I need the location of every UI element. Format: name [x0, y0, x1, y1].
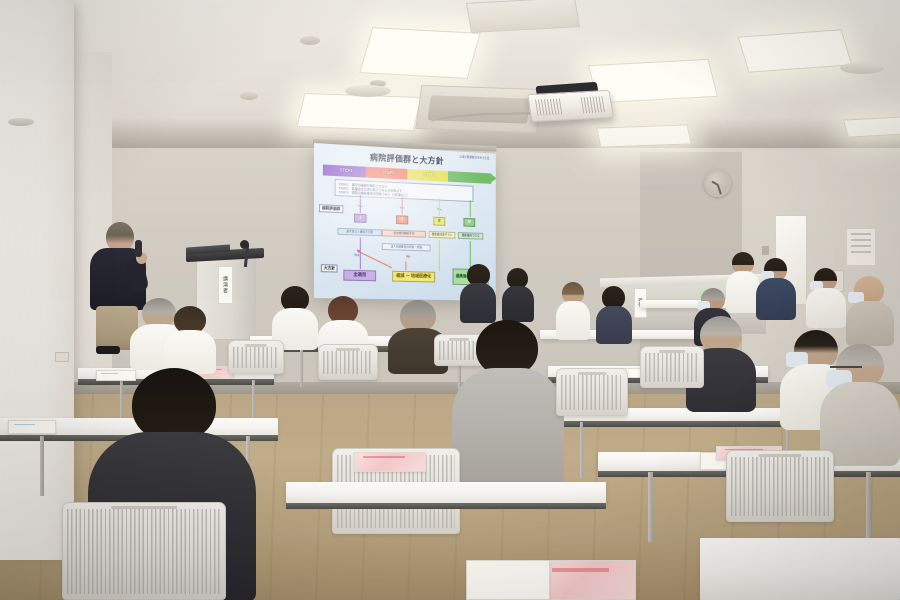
group-desc-4: 機能維持できる [458, 232, 483, 240]
attendee-torso [846, 301, 894, 346]
attendee-torso [452, 368, 564, 492]
result-box-1: 全適用 [343, 270, 376, 282]
smoke-detector-icon [300, 36, 320, 45]
attendee-head [132, 368, 216, 442]
microphone-icon [240, 240, 249, 249]
wall-outlet [55, 352, 69, 362]
table [286, 482, 606, 504]
group-box-2: Ⅱ [396, 215, 408, 224]
presenter-microphone-icon [135, 240, 142, 257]
air-conditioner-vent [466, 0, 580, 33]
attendee [846, 276, 894, 346]
chair[interactable] [726, 450, 834, 522]
attendee [756, 258, 796, 320]
wall-poster [846, 228, 876, 266]
ceiling-light-panel [843, 116, 900, 137]
chair[interactable] [640, 346, 704, 388]
attendee [820, 344, 900, 464]
attendee [806, 268, 846, 328]
ceiling-light-panel [297, 93, 422, 131]
attendee [596, 286, 632, 344]
mid-condition-box: 法人内部移管の対象・内容 [382, 243, 431, 251]
podium-sign: 講演者 [218, 266, 233, 304]
ceiling-light-panel [738, 29, 853, 72]
smoke-detector-icon [240, 92, 258, 100]
seminar-room-photo: 日本の医療経営を考える会 病院評価群と大方針 STEP1 STEP2 STEP3… [0, 0, 900, 600]
attendee [272, 286, 318, 348]
handout-pink[interactable] [354, 452, 426, 472]
step-arrow-2: STEP2 [366, 167, 411, 180]
step-arrow-1: STEP1 [323, 164, 370, 177]
branch-yes-label: Yes [354, 254, 359, 258]
sprinkler-icon [8, 118, 34, 126]
chair[interactable] [318, 344, 378, 380]
table [700, 538, 900, 600]
structural-pillar [0, 0, 74, 560]
ceiling-light-panel [596, 124, 692, 147]
wall-clock [704, 170, 731, 197]
group-box-4: Ⅳ [463, 218, 475, 227]
attendee [460, 264, 496, 322]
group-desc-1: 過不足なく継続不可能 [338, 228, 382, 236]
ceiling-speaker-icon [840, 62, 884, 74]
group-desc-2: 収支維持継続不可 [382, 229, 426, 237]
presenter-shoe [96, 346, 120, 354]
ceiling-speaker-icon [345, 85, 391, 97]
chair[interactable] [556, 368, 628, 416]
attendee-torso [502, 286, 534, 322]
ceiling-projector [527, 90, 614, 122]
projector-grille [581, 96, 605, 113]
group-desc-3: 機能維持あやうい [429, 231, 456, 239]
label-policy: 大方針 [321, 264, 338, 272]
attendee-torso [596, 306, 632, 344]
handout-pink[interactable] [540, 560, 636, 600]
group-box-3: Ⅲ [433, 217, 445, 226]
result-box-2: 縮減 ー 地域医療化 [392, 271, 435, 283]
attendee [452, 320, 564, 490]
handout[interactable] [8, 420, 56, 434]
label-hospital-groups: 病院評価群 [319, 204, 343, 213]
attendee [164, 306, 216, 374]
attendee-torso [460, 283, 496, 323]
door-handle[interactable] [762, 246, 769, 255]
branch-no-label: No [406, 256, 410, 260]
step-arrow-4 [448, 171, 491, 184]
attendee-torso [806, 288, 846, 328]
handout[interactable] [466, 560, 550, 600]
attendee-torso [756, 278, 796, 320]
attendee [502, 268, 534, 322]
group-box-1: Ⅰ [354, 214, 367, 223]
step-arrow-3: STEP3 [407, 169, 451, 182]
projector-grille [535, 98, 563, 115]
chair[interactable] [62, 502, 226, 600]
clock-minute-hand [717, 184, 722, 194]
diagonal-arrow [357, 250, 392, 268]
ceiling-light-panel [359, 27, 481, 79]
